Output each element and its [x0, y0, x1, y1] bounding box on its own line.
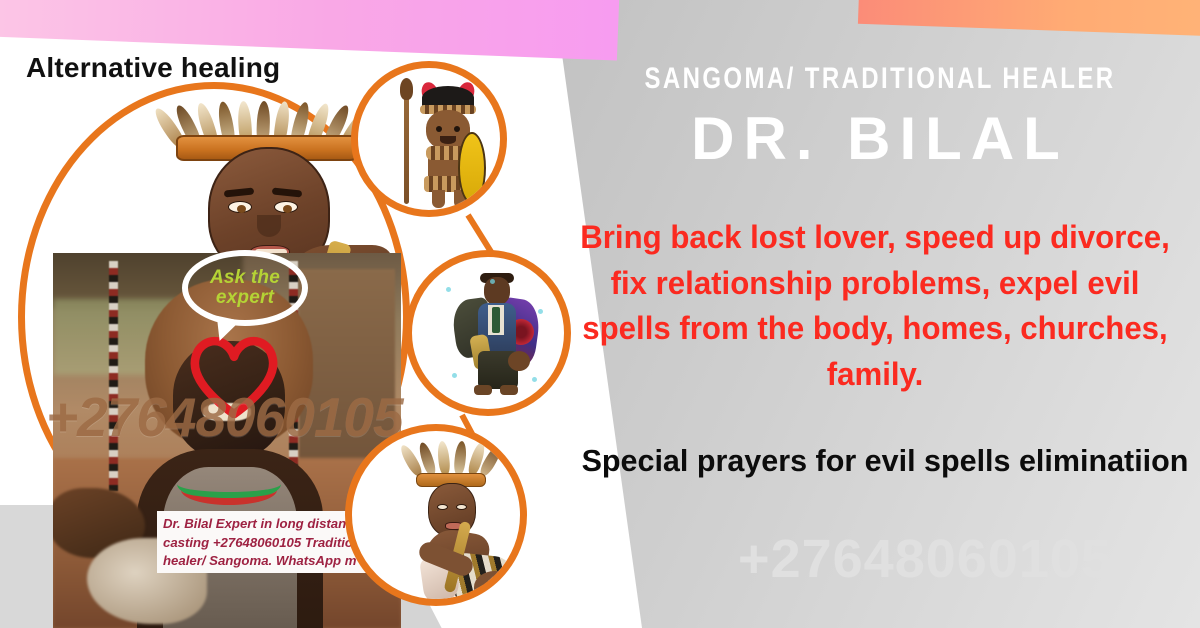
speech-bubble-text: Ask the expert [188, 268, 302, 308]
right-eye [274, 201, 298, 213]
caption-line-3: healer/ Sangoma. WhatsApp m [163, 552, 368, 571]
caption-line-2: casting +27648060105 Traditio [163, 534, 368, 553]
red-necklace [181, 475, 277, 505]
kneeling-warrior-icon [378, 445, 518, 603]
photo-caption-box: Dr. Bilal Expert in long distan casting … [157, 511, 373, 573]
circle-kneeling-warrior-illustration [345, 424, 527, 606]
left-illustration-stage: Ask the expert +27648060105 Dr. Bilal Ex… [0, 0, 560, 628]
left-eye [228, 201, 252, 213]
services-black-text: Special prayers for evil spells eliminat… [580, 440, 1190, 482]
poster-canvas: Ask the expert +27648060105 Dr. Bilal Ex… [0, 0, 1200, 628]
kicker-subtitle: SANGOMA/ TRADITIONAL HEALER [624, 62, 1136, 96]
robed-diviner-icon [450, 277, 540, 401]
right-content-panel: SANGOMA/ TRADITIONAL HEALER DR. BILAL Br… [540, 0, 1200, 628]
right-eyebrow [272, 187, 303, 197]
speech-bubble-tail [212, 316, 240, 344]
speech-bubble: Ask the expert [182, 250, 308, 326]
phone-watermark: +27648060105 [645, 528, 1200, 590]
circle-cartoon-zulu-warrior-boy [351, 61, 507, 217]
left-eyebrow [224, 187, 255, 197]
alternative-healing-heading: Alternative healing [26, 52, 280, 84]
services-red-text: Bring back lost lover, speed up divorce,… [573, 215, 1178, 397]
nose [257, 215, 281, 237]
zulu-warrior-boy-icon [388, 80, 484, 208]
page-title: DR. BILAL [560, 104, 1200, 173]
caption-line-1: Dr. Bilal Expert in long distan [163, 515, 368, 534]
photo-phone-watermark: +27648060105 [46, 385, 403, 449]
yellow-shield-icon [458, 132, 486, 204]
